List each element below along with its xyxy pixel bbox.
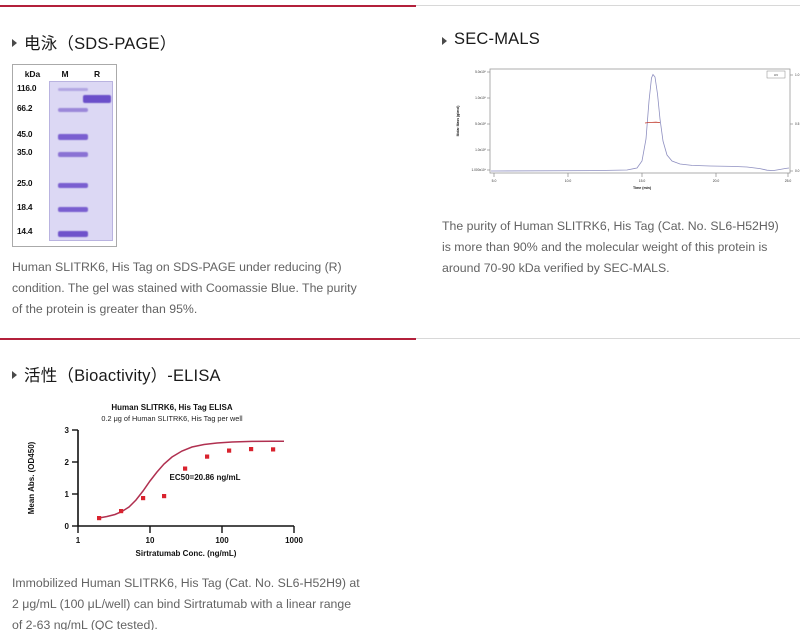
sec-mals-left-tick-labels: 5.0x10⁶ 1.0x10⁶ 5.0x10⁵ 1.0x10⁵ 1.000x10…: [472, 70, 487, 172]
gel-band-marker-14: [58, 231, 88, 237]
sec-mals-ytick-2: 5.0x10⁵: [475, 122, 487, 126]
elisa-subtitle: 0.2 μg of Human SLITRK6, His Tag per wel…: [101, 414, 243, 423]
sec-mals-plot-frame: [490, 69, 790, 173]
elisa-point-1: [119, 509, 123, 513]
gel-ladder-labels: 116.0 66.2 45.0 35.0 25.0 18.4 14.4: [16, 81, 49, 241]
elisa-xtick-2: 100: [215, 536, 229, 545]
sec-mals-legend-label: UV: [774, 73, 778, 77]
bioactivity-right-spacer: [420, 362, 800, 630]
validation-row-bottom: 活性（Bioactivity）-ELISA Human SLITRK6, His…: [0, 362, 800, 630]
product-validation-page: 电泳（SDS-PAGE） kDa M R 116.0 66.2 45.0 35.…: [0, 5, 800, 630]
section-divider-red-accent: [0, 338, 416, 340]
sec-mals-bottom-ticks: [494, 173, 788, 177]
sec-mals-y2tick-0: 0.0: [795, 169, 800, 173]
sec-mals-ylabel: Molar Mass (g/mol): [456, 106, 460, 137]
gel-band-marker-116: [58, 88, 88, 91]
gel-ladder-label-35: 35.0: [17, 147, 32, 157]
sec-mals-caption: The purity of Human SLITRK6, His Tag (Ca…: [442, 216, 786, 279]
sec-mals-panel: SEC-MALS 5.0x10⁶ 1.0: [420, 30, 800, 320]
gel-ladder-label-116: 116.0: [17, 83, 36, 93]
elisa-chart-svg: Human SLITRK6, His Tag ELISA 0.2 μg of H…: [12, 396, 332, 561]
gel-ladder-label-25: 25.0: [17, 178, 32, 188]
gel-header-sample-lane: R: [81, 69, 113, 79]
elisa-xtick-3: 1000: [285, 536, 303, 545]
elisa-ytick-3: 3: [65, 426, 70, 435]
sec-mals-legend: UV: [767, 71, 785, 78]
elisa-point-3: [162, 494, 166, 498]
sec-mals-xtick-1: 10.0: [565, 179, 572, 183]
sec-mals-ytick-0: 1.000x10⁴: [472, 168, 487, 172]
caret-right-icon: [12, 39, 17, 47]
elisa-point-4: [183, 467, 187, 471]
elisa-point-6: [227, 449, 231, 453]
section-divider: [0, 338, 800, 340]
sec-mals-y2tick-2: 1.0: [795, 73, 800, 77]
bioactivity-caption: Immobilized Human SLITRK6, His Tag (Cat.…: [12, 573, 362, 630]
elisa-point-8: [271, 447, 275, 451]
sec-mals-xtick-3: 20.0: [713, 179, 720, 183]
sec-mals-y2tick-1: 0.5: [795, 122, 800, 126]
elisa-chart: Human SLITRK6, His Tag ELISA 0.2 μg of H…: [12, 396, 332, 561]
top-divider: [0, 5, 800, 7]
elisa-ytick-2: 2: [65, 458, 70, 467]
gel-ladder-label-14: 14.4: [17, 226, 32, 236]
gel-band-marker-18: [58, 207, 88, 212]
sec-mals-xtick-2: 15.0: [639, 179, 646, 183]
sec-mals-left-ticks: [487, 72, 490, 170]
elisa-point-0: [97, 516, 101, 520]
gel-ladder-label-45: 45.0: [17, 129, 32, 139]
gel-band-marker-66: [58, 108, 88, 112]
elisa-ec50-annotation: EC50=20.86 ng/mL: [170, 473, 241, 482]
elisa-point-7: [249, 447, 253, 451]
sec-mals-ytick-4: 5.0x10⁶: [475, 70, 487, 74]
elisa-xtick-0: 1: [76, 536, 81, 545]
bioactivity-heading: 活性（Bioactivity）-ELISA: [12, 362, 420, 386]
gel-body: 116.0 66.2 45.0 35.0 25.0 18.4 14.4: [16, 81, 113, 241]
elisa-xlabel: Sirtratumab Conc. (ng/mL): [136, 549, 237, 558]
sec-mals-heading: SEC-MALS: [442, 30, 786, 49]
sds-page-panel: 电泳（SDS-PAGE） kDa M R 116.0 66.2 45.0 35.…: [0, 30, 420, 320]
elisa-y-tick-labels: 0 1 2 3: [65, 426, 70, 531]
sec-mals-right-ticks: [790, 75, 793, 171]
sec-mals-chart-svg: 5.0x10⁶ 1.0x10⁶ 5.0x10⁵ 1.0x10⁵ 1.000x10…: [442, 61, 800, 203]
sec-mals-xlabel: Time (min): [633, 186, 652, 190]
sec-mals-heading-label: SEC-MALS: [454, 30, 540, 49]
caret-right-icon: [12, 371, 17, 379]
elisa-xtick-1: 10: [146, 536, 155, 545]
sec-mals-xtick-0: 5.0: [492, 179, 497, 183]
sec-mals-right-tick-labels: 1.0 0.5 0.0: [795, 73, 800, 173]
gel-header-marker-lane: M: [49, 69, 81, 79]
sec-mals-xtick-labels: 5.0 10.0 15.0 20.0 25.0: [492, 179, 792, 183]
elisa-ytick-1: 1: [65, 490, 70, 499]
bioactivity-heading-label: 活性（Bioactivity）-ELISA: [24, 362, 221, 386]
elisa-point-2: [141, 496, 145, 500]
elisa-ylabel: Mean Abs. (OD450): [27, 441, 36, 514]
sds-page-heading-label: 电泳（SDS-PAGE）: [24, 30, 176, 54]
bioactivity-panel: 活性（Bioactivity）-ELISA Human SLITRK6, His…: [0, 362, 420, 630]
sec-mals-ytick-1: 1.0x10⁵: [475, 148, 487, 152]
top-divider-red-accent: [0, 5, 416, 7]
gel-column-headers: kDa M R: [16, 68, 113, 81]
gel-header-kda: kDa: [16, 69, 49, 79]
elisa-y-ticks: [72, 430, 78, 526]
sds-page-gel-figure: kDa M R 116.0 66.2 45.0 35.0 25.0 18.4 1…: [12, 64, 117, 247]
gel-band-marker-45: [58, 134, 88, 140]
sds-page-heading: 电泳（SDS-PAGE）: [12, 30, 420, 54]
sec-mals-xtick-4: 25.0: [785, 179, 792, 183]
sds-page-caption: Human SLITRK6, His Tag on SDS-PAGE under…: [12, 257, 362, 320]
gel-band-sample-slitrk6: [83, 95, 111, 103]
caret-right-icon: [442, 37, 447, 45]
elisa-ytick-0: 0: [65, 522, 70, 531]
sec-mals-ytick-3: 1.0x10⁶: [475, 96, 487, 100]
gel-band-marker-25: [58, 183, 88, 188]
gel-lanes: [49, 81, 113, 241]
gel-ladder-label-18: 18.4: [17, 202, 32, 212]
elisa-title: Human SLITRK6, His Tag ELISA: [111, 403, 232, 412]
elisa-data-points: [97, 447, 275, 520]
elisa-x-ticks: [78, 526, 294, 533]
elisa-point-5: [205, 455, 209, 459]
gel-ladder-label-66: 66.2: [17, 103, 32, 113]
elisa-x-tick-labels: 1 10 100 1000: [76, 536, 304, 545]
sec-mals-chart: 5.0x10⁶ 1.0x10⁶ 5.0x10⁵ 1.0x10⁵ 1.000x10…: [442, 61, 800, 206]
validation-row-top: 电泳（SDS-PAGE） kDa M R 116.0 66.2 45.0 35.…: [0, 30, 800, 320]
gel-band-marker-35: [58, 152, 88, 157]
